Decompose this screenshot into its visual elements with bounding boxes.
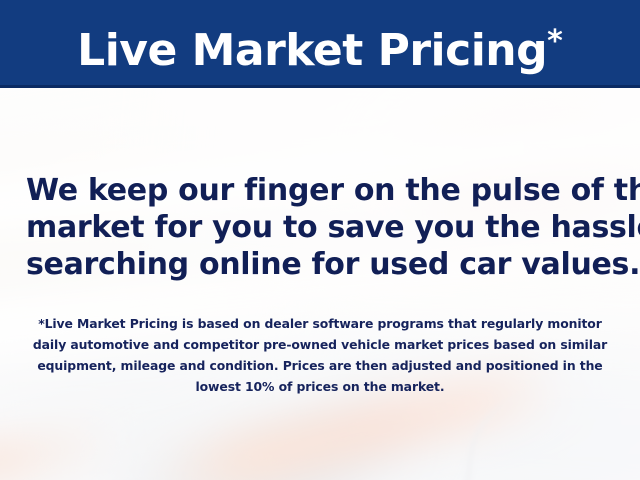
live-market-pricing-banner: Live Market Pricing* We keep our finger … — [0, 0, 640, 480]
disclaimer-text: *Live Market Pricing is based on dealer … — [32, 313, 608, 397]
disclaimer-line-1: *Live Market Pricing is based on dealer … — [32, 313, 608, 334]
page-title-text: Live Market Pricing — [77, 25, 547, 76]
disclaimer-line-4: lowest 10% of prices on the market. — [32, 376, 608, 397]
disclaimer-line-2: daily automotive and competitor pre-owne… — [32, 334, 608, 355]
page-title: Live Market Pricing* — [0, 16, 640, 77]
content-area: We keep our finger on the pulse of the m… — [0, 88, 640, 480]
disclaimer-line-3: equipment, mileage and condition. Prices… — [32, 355, 608, 376]
page-title-asterisk: * — [547, 24, 563, 59]
headline: We keep our finger on the pulse of the m… — [26, 172, 614, 283]
header-band: Live Market Pricing* — [0, 0, 640, 88]
headline-line-3: searching online for used car values. — [26, 246, 614, 283]
headline-line-2: market for you to save you the hassle of — [26, 209, 614, 246]
headline-line-1: We keep our finger on the pulse of the — [26, 172, 614, 209]
